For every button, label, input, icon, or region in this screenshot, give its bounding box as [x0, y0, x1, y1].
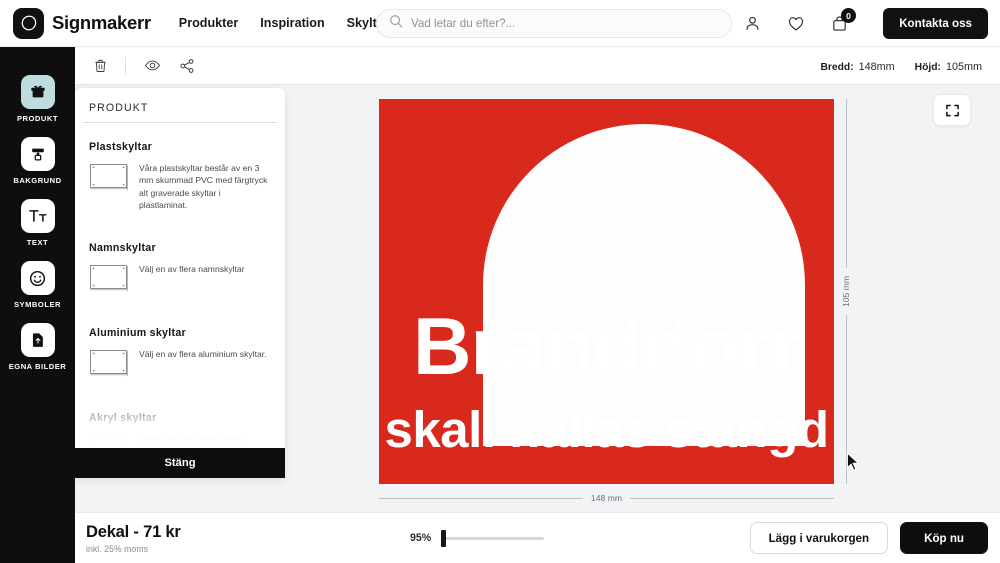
height-label: Höjd:	[915, 62, 941, 73]
product-box-icon	[21, 75, 55, 109]
guide-line-top	[846, 99, 847, 268]
nav-inspiration[interactable]: Inspiration	[260, 16, 324, 30]
smiley-icon	[21, 261, 55, 295]
sign-preview[interactable]: Branddörr skall hållas stängd	[379, 99, 834, 484]
zoom-percent: 95%	[410, 532, 431, 544]
price-subtitle: inkl. 25% moms	[86, 544, 181, 554]
product-description: Välj en av flera aluminium skyltar.	[139, 348, 271, 382]
zoom-slider-thumb[interactable]	[441, 530, 446, 547]
product-name: Plastskyltar	[89, 141, 271, 153]
file-upload-icon	[21, 323, 55, 357]
product-list: Plastskyltar Våra plastskyltar består av…	[75, 123, 285, 467]
buy-now-button[interactable]: Köp nu	[900, 522, 988, 554]
product-name: Namnskyltar	[89, 242, 271, 254]
rail-item-text[interactable]: TEXT	[0, 199, 75, 247]
contact-button[interactable]: Kontakta oss	[883, 8, 988, 39]
panel-close-button[interactable]: Stäng	[75, 448, 285, 478]
guide-line-left	[379, 498, 583, 499]
paint-roller-icon	[21, 137, 55, 171]
rail-item-produkt[interactable]: PRODUKT	[0, 75, 75, 123]
trash-icon[interactable]	[93, 58, 108, 73]
semicircle-shape[interactable]	[483, 124, 805, 446]
skyltstudion-editor: Signmakerr Produkter Inspiration Skyltst…	[0, 0, 1000, 563]
bottom-actions: Lägg i varukorgen Köp nu	[750, 522, 988, 554]
width-guide-label: 148 mm	[583, 493, 630, 503]
blob-logo-icon	[13, 8, 44, 39]
guide-line-right	[630, 498, 834, 499]
site-header: Signmakerr Produkter Inspiration Skyltst…	[0, 0, 1000, 47]
height-guide-label: 105 mm	[841, 268, 851, 315]
search-input[interactable]: Vad letar du efter?...	[376, 9, 732, 38]
width-guide: 148 mm	[379, 492, 834, 504]
toolbar-divider	[125, 57, 126, 74]
list-item[interactable]: Namnskyltar Välj en av flera namnskyltar	[89, 242, 271, 297]
bottom-bar: Dekal - 71 kr inkl. 25% moms 95% Lägg i …	[75, 512, 1000, 563]
canvas-dimensions: Bredd:148mm Höjd:105mm	[820, 57, 982, 75]
rail-label-bakgrund: BAKGRUND	[13, 176, 61, 185]
share-icon[interactable]	[179, 58, 195, 74]
text-tt-icon	[21, 199, 55, 233]
user-icon[interactable]	[744, 15, 761, 32]
search-placeholder: Vad letar du efter?...	[411, 17, 515, 30]
product-name: Akryl skyltar	[89, 412, 271, 424]
rail-label-symboler: SYMBOLER	[14, 300, 61, 309]
height-value: 105mm	[946, 61, 982, 73]
product-panel: PRODUKT Plastskyltar Våra plastskyltar b…	[75, 88, 285, 478]
sign-thumbnail-icon	[89, 348, 129, 382]
search-icon	[389, 14, 403, 33]
brand-name: Signmakerr	[52, 12, 151, 34]
product-name: Aluminium skyltar	[89, 327, 271, 339]
sign-text-line-2[interactable]: skall hållas stängd	[379, 404, 834, 455]
fullscreen-icon[interactable]	[933, 94, 971, 126]
editor-toolbar: Bredd:148mm Höjd:105mm	[75, 47, 1000, 85]
height-dimension: Höjd:105mm	[915, 57, 982, 75]
eye-icon[interactable]	[144, 57, 161, 74]
list-item[interactable]: Plastskyltar Våra plastskyltar består av…	[89, 141, 271, 212]
cart-count-badge: 0	[841, 8, 856, 23]
price-block: Dekal - 71 kr inkl. 25% moms	[86, 523, 181, 554]
zoom-slider[interactable]	[444, 537, 544, 540]
width-label: Bredd:	[820, 62, 853, 73]
sign-text-line-1[interactable]: Branddörr	[379, 307, 834, 388]
list-item[interactable]: Aluminium skyltar Välj en av flera alumi…	[89, 327, 271, 382]
add-to-cart-button[interactable]: Lägg i varukorgen	[750, 522, 889, 554]
rail-label-egna-bilder: EGNA BILDER	[9, 362, 67, 371]
rail-item-symboler[interactable]: SYMBOLER	[0, 261, 75, 309]
rail-item-bakgrund[interactable]: BAKGRUND	[0, 137, 75, 185]
zoom-control: 95%	[410, 532, 544, 544]
nav-produkter[interactable]: Produkter	[179, 16, 238, 30]
heart-icon[interactable]	[787, 15, 805, 33]
rail-item-egna-bilder[interactable]: EGNA BILDER	[0, 323, 75, 371]
height-guide: 105 mm	[840, 99, 852, 484]
width-dimension: Bredd:148mm	[820, 57, 894, 75]
tool-rail: PRODUKT BAKGRUND TEXT	[0, 47, 75, 563]
width-value: 148mm	[859, 61, 895, 73]
header-icon-group: 0	[744, 0, 848, 47]
sign-thumbnail-icon	[89, 263, 129, 297]
logo[interactable]: Signmakerr	[13, 8, 151, 39]
product-description: Välj en av flera namnskyltar	[139, 263, 271, 297]
price-title: Dekal - 71 kr	[86, 523, 181, 542]
guide-line-bottom	[846, 315, 847, 484]
shopping-bag-icon[interactable]: 0	[831, 15, 848, 32]
product-description: Våra plastskyltar består av en 3 mm skum…	[139, 162, 271, 212]
panel-title: PRODUKT	[75, 88, 285, 122]
sign-thumbnail-icon	[89, 162, 129, 212]
rail-label-produkt: PRODUKT	[17, 114, 58, 123]
rail-label-text: TEXT	[27, 238, 48, 247]
